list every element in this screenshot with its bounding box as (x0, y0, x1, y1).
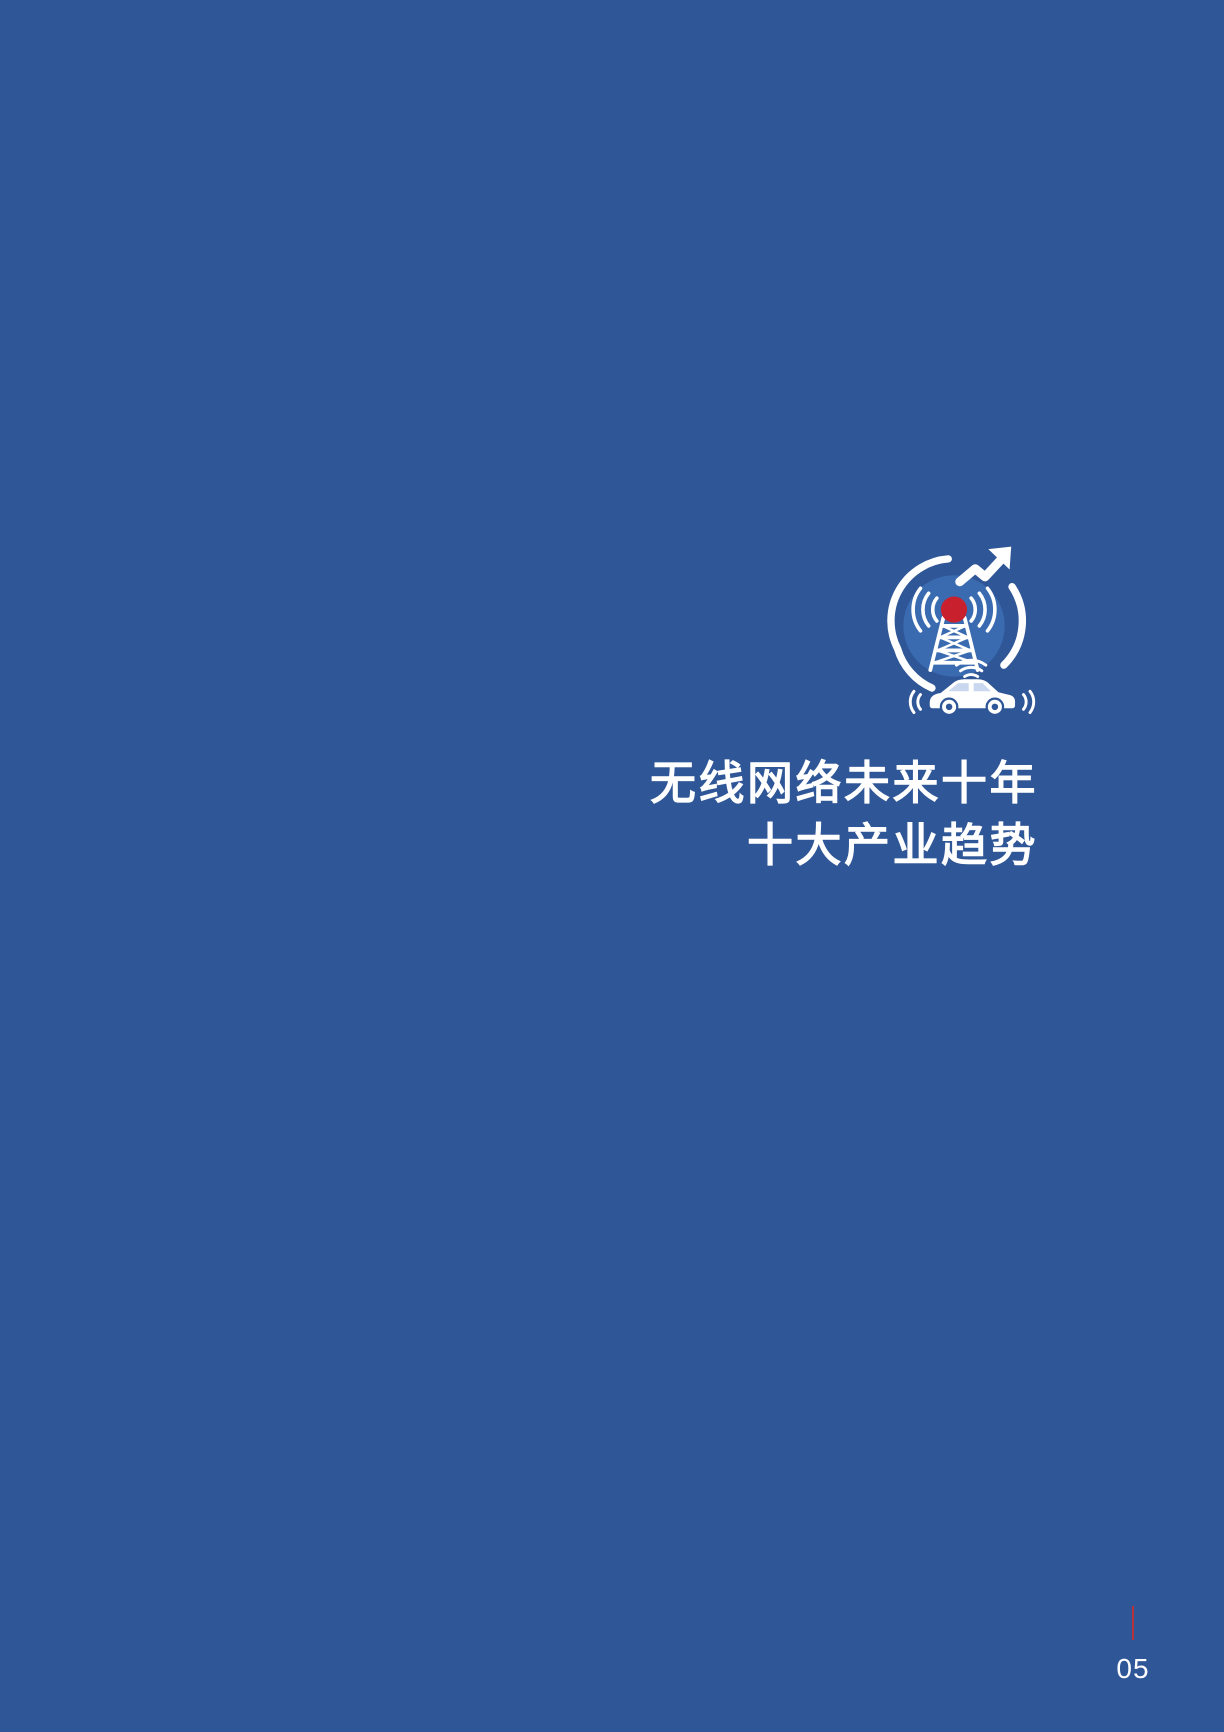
page-number-rule (1132, 1606, 1134, 1640)
ring-inner-disc (903, 575, 1004, 676)
ring-arc-left (891, 559, 948, 688)
page-title-line-1: 无线网络未来十年 (398, 752, 1038, 814)
growth-arrow-icon (960, 547, 1011, 582)
page-footer: 05 (1088, 1606, 1178, 1684)
car-roof-waves-icon (956, 660, 985, 676)
tower-waves-right-icon (971, 588, 995, 631)
car-waves-left-icon (910, 691, 920, 712)
car-waves-right-icon (1023, 691, 1033, 712)
connected-car-icon (929, 678, 1016, 715)
page-title: 无线网络未来十年 十大产业趋势 (398, 752, 1038, 876)
ring-arc-right (1004, 587, 1022, 665)
wireless-network-growth-icon (868, 536, 1040, 724)
signal-tower-icon (930, 618, 977, 670)
tower-beacon-icon (941, 596, 967, 622)
page-title-line-2: 十大产业趋势 (398, 814, 1038, 876)
page-number: 05 (1088, 1654, 1178, 1684)
tower-waves-left-icon (913, 588, 937, 631)
cover-page: 无线网络未来十年 十大产业趋势 05 (0, 0, 1224, 1732)
hero-section: 无线网络未来十年 十大产业趋势 (0, 0, 1224, 1000)
